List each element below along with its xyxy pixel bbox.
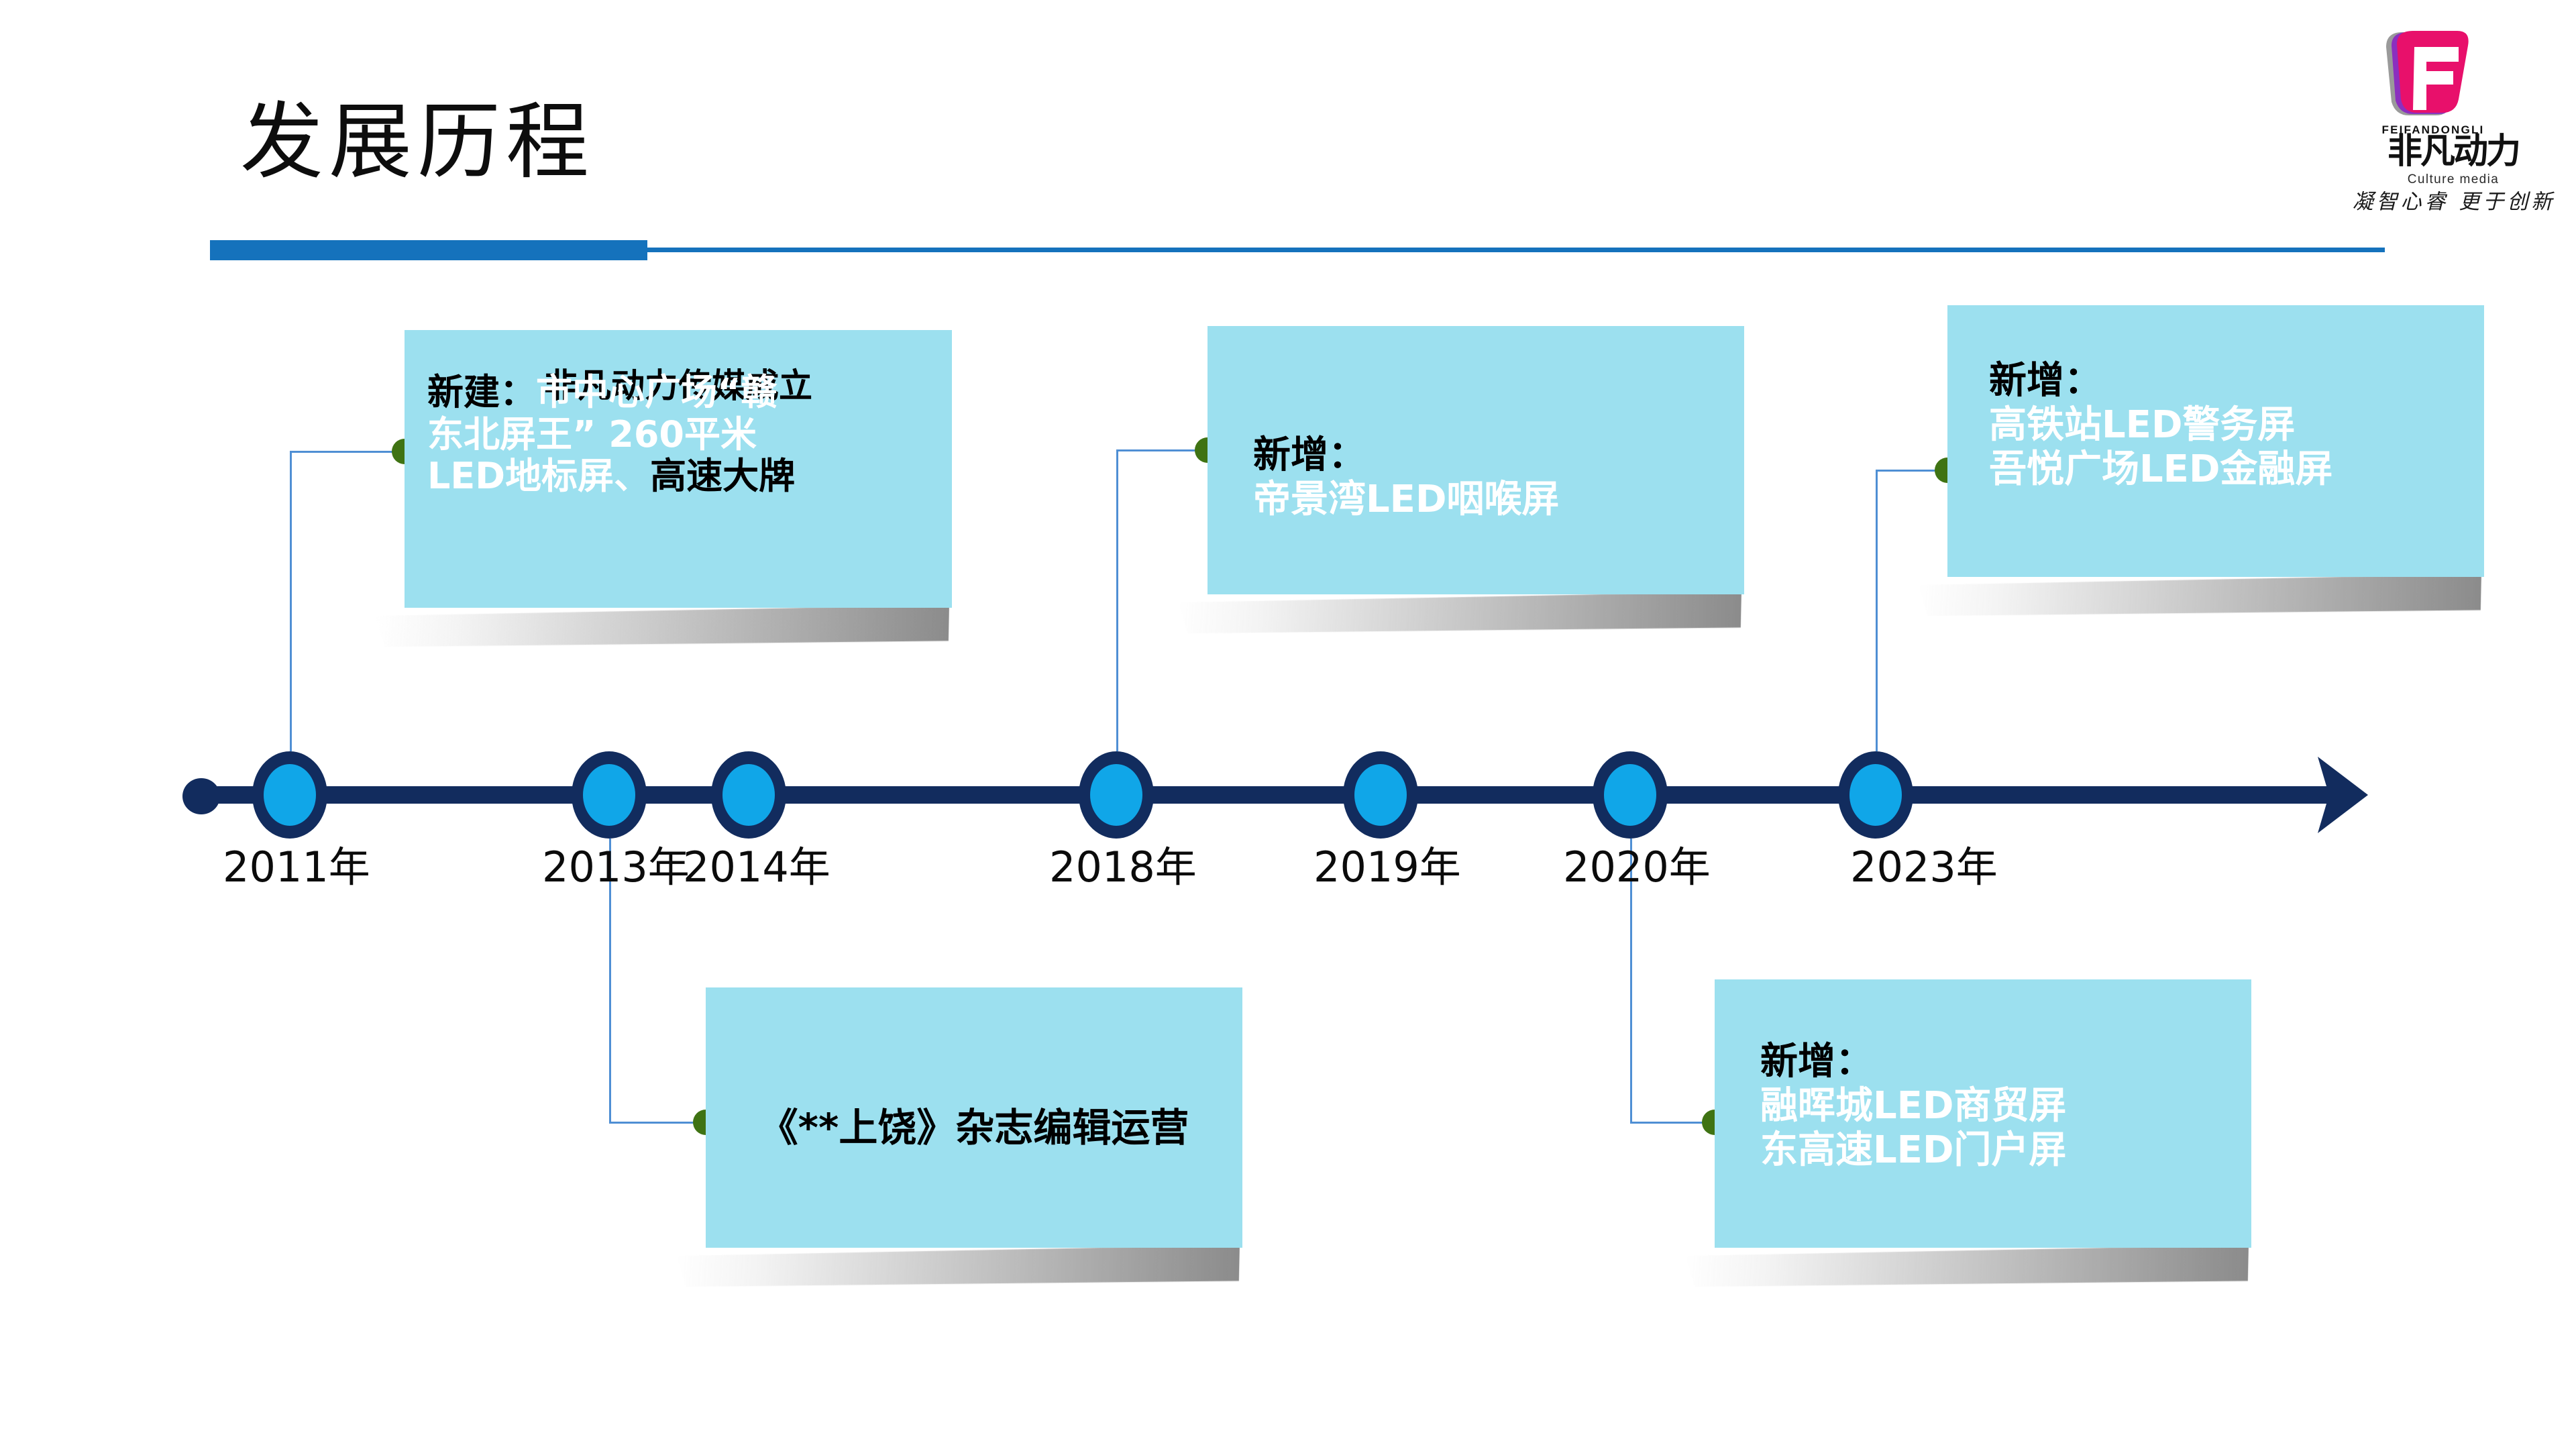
feifandongli-f-logo-icon (2373, 27, 2472, 121)
timeline-node-2020[interactable] (1593, 751, 1668, 839)
logo-subtitle: Culture media (2353, 173, 2554, 186)
timeline-node-fill (722, 764, 775, 826)
timeline-node-2014[interactable] (711, 751, 786, 839)
page-title: 发展历程 (240, 101, 594, 184)
timeline-node-fill (1090, 764, 1142, 826)
card-2020[interactable]: 新增：融晖城LED商贸屏东高速LED门户屏 (1715, 979, 2251, 1248)
timeline-node-2011[interactable] (252, 751, 327, 839)
logo-tagline: 凝智心睿 更于创新 (2343, 192, 2565, 213)
card-body-line: 融晖城LED商贸屏 (1760, 1084, 2206, 1128)
logo-chinese-text: 非凡动力 (2353, 134, 2554, 169)
connector-line-vertical (1116, 449, 1118, 751)
timeline-node-fill (583, 764, 635, 826)
connector-line-horizontal (609, 1122, 706, 1124)
card-text-highlight: 市中心广场“赣 (536, 371, 777, 413)
title-underline-bar-thin (647, 248, 2385, 252)
timeline-node-fill (1604, 764, 1656, 826)
card-text-highlight: 吾悦广场LED金融屏 (1989, 447, 2332, 491)
card-body-line: LED地标屏、高速大牌 (427, 455, 929, 498)
card-text-highlight: 帝景湾LED咽喉屏 (1253, 478, 1559, 521)
timeline-year-label: 2019年 (1313, 847, 1461, 888)
card-body-line: 东北屏王” 260平米 (427, 414, 929, 456)
card-body: 新建：市中心广场“赣东北屏王” 260平米LED地标屏、高速大牌 (405, 372, 952, 498)
card-body: 新增：融晖城LED商贸屏东高速LED门户屏 (1715, 1040, 2251, 1173)
card-text-plain: 《**上饶》杂志编辑运营 (759, 1105, 1189, 1150)
card-body: 新增：帝景湾LED咽喉屏 (1207, 433, 1744, 522)
card-body-line: 新建：市中心广场“赣 (427, 372, 929, 414)
timeline-node-2013[interactable] (572, 751, 647, 839)
card-text-highlight: LED地标屏、 (427, 455, 650, 497)
timeline-node-fill (1849, 764, 1902, 826)
card-body-line: 《**上饶》杂志编辑运营 (729, 1106, 1220, 1150)
card-body: 《**上饶》杂志编辑运营 (706, 1106, 1242, 1150)
timeline-year-label: 2020年 (1563, 847, 1711, 888)
card-text-highlight: 东北屏王” 260平米 (427, 413, 757, 455)
card-drop-shadow (1917, 574, 2481, 616)
card-body-line: 高铁站LED警务屏 (1989, 403, 2443, 447)
card-text-plain: 新增： (1253, 433, 1366, 477)
timeline-year-label: 2013年 (542, 847, 690, 888)
timeline-node-2023[interactable] (1838, 751, 1913, 839)
title-underline-bar-thick (210, 240, 647, 260)
card-drop-shadow (1684, 1245, 2249, 1287)
card-text-plain: 新建： (427, 371, 536, 413)
company-logo: FEIFANDONGLI 非凡动力 Culture media 凝智心睿 更于创… (2338, 15, 2573, 229)
timeline-node-2019[interactable] (1343, 751, 1418, 839)
card-body-line: 东高速LED门户屏 (1760, 1128, 2206, 1173)
timeline-node-2018[interactable] (1079, 751, 1154, 839)
card-drop-shadow (1177, 592, 1741, 633)
connector-line-vertical (1876, 470, 1878, 751)
card-body-line: 帝景湾LED咽喉屏 (1253, 478, 1699, 522)
card-2018[interactable]: 新增：帝景湾LED咽喉屏 (1207, 326, 1744, 594)
connector-line-horizontal (290, 451, 405, 453)
timeline-year-label: 2023年 (1850, 847, 1998, 888)
timeline-axis (188, 786, 2321, 804)
card-body-line: 新增： (1760, 1040, 2206, 1084)
connector-line-horizontal (1116, 449, 1207, 451)
card-2013[interactable]: 《**上饶》杂志编辑运营 (706, 987, 1242, 1248)
card-drop-shadow (374, 605, 949, 647)
timeline-year-label: 2011年 (223, 847, 370, 888)
timeline-year-label: 2018年 (1049, 847, 1197, 888)
card-text-highlight: 高铁站LED警务屏 (1989, 403, 2295, 447)
connector-line-vertical (290, 451, 292, 751)
card-body-line: 吾悦广场LED金融屏 (1989, 447, 2443, 492)
card-text-highlight: 东高速LED门户屏 (1760, 1128, 2066, 1172)
timeline-node-fill (1354, 764, 1407, 826)
card-2023[interactable]: 新增：高铁站LED警务屏吾悦广场LED金融屏 (1947, 305, 2484, 577)
card-text-plain: 高速大牌 (650, 455, 795, 497)
card-text-highlight: 融晖城LED商贸屏 (1760, 1084, 2066, 1128)
card-drop-shadow (675, 1245, 1240, 1287)
card-body-line: 新增： (1253, 433, 1699, 478)
card-body-line: 新增： (1989, 359, 2443, 403)
card-text-plain: 新增： (1760, 1040, 1873, 1083)
timeline-node-fill (264, 764, 316, 826)
timeline-year-label: 2014年 (683, 847, 830, 888)
card-text-plain: 新增： (1989, 359, 2102, 402)
card-2011[interactable]: 非凡动力传媒成立新建：市中心广场“赣东北屏王” 260平米LED地标屏、高速大牌 (405, 330, 952, 608)
card-body: 新增：高铁站LED警务屏吾悦广场LED金融屏 (1947, 359, 2484, 492)
arrow-right-icon (2281, 753, 2368, 837)
